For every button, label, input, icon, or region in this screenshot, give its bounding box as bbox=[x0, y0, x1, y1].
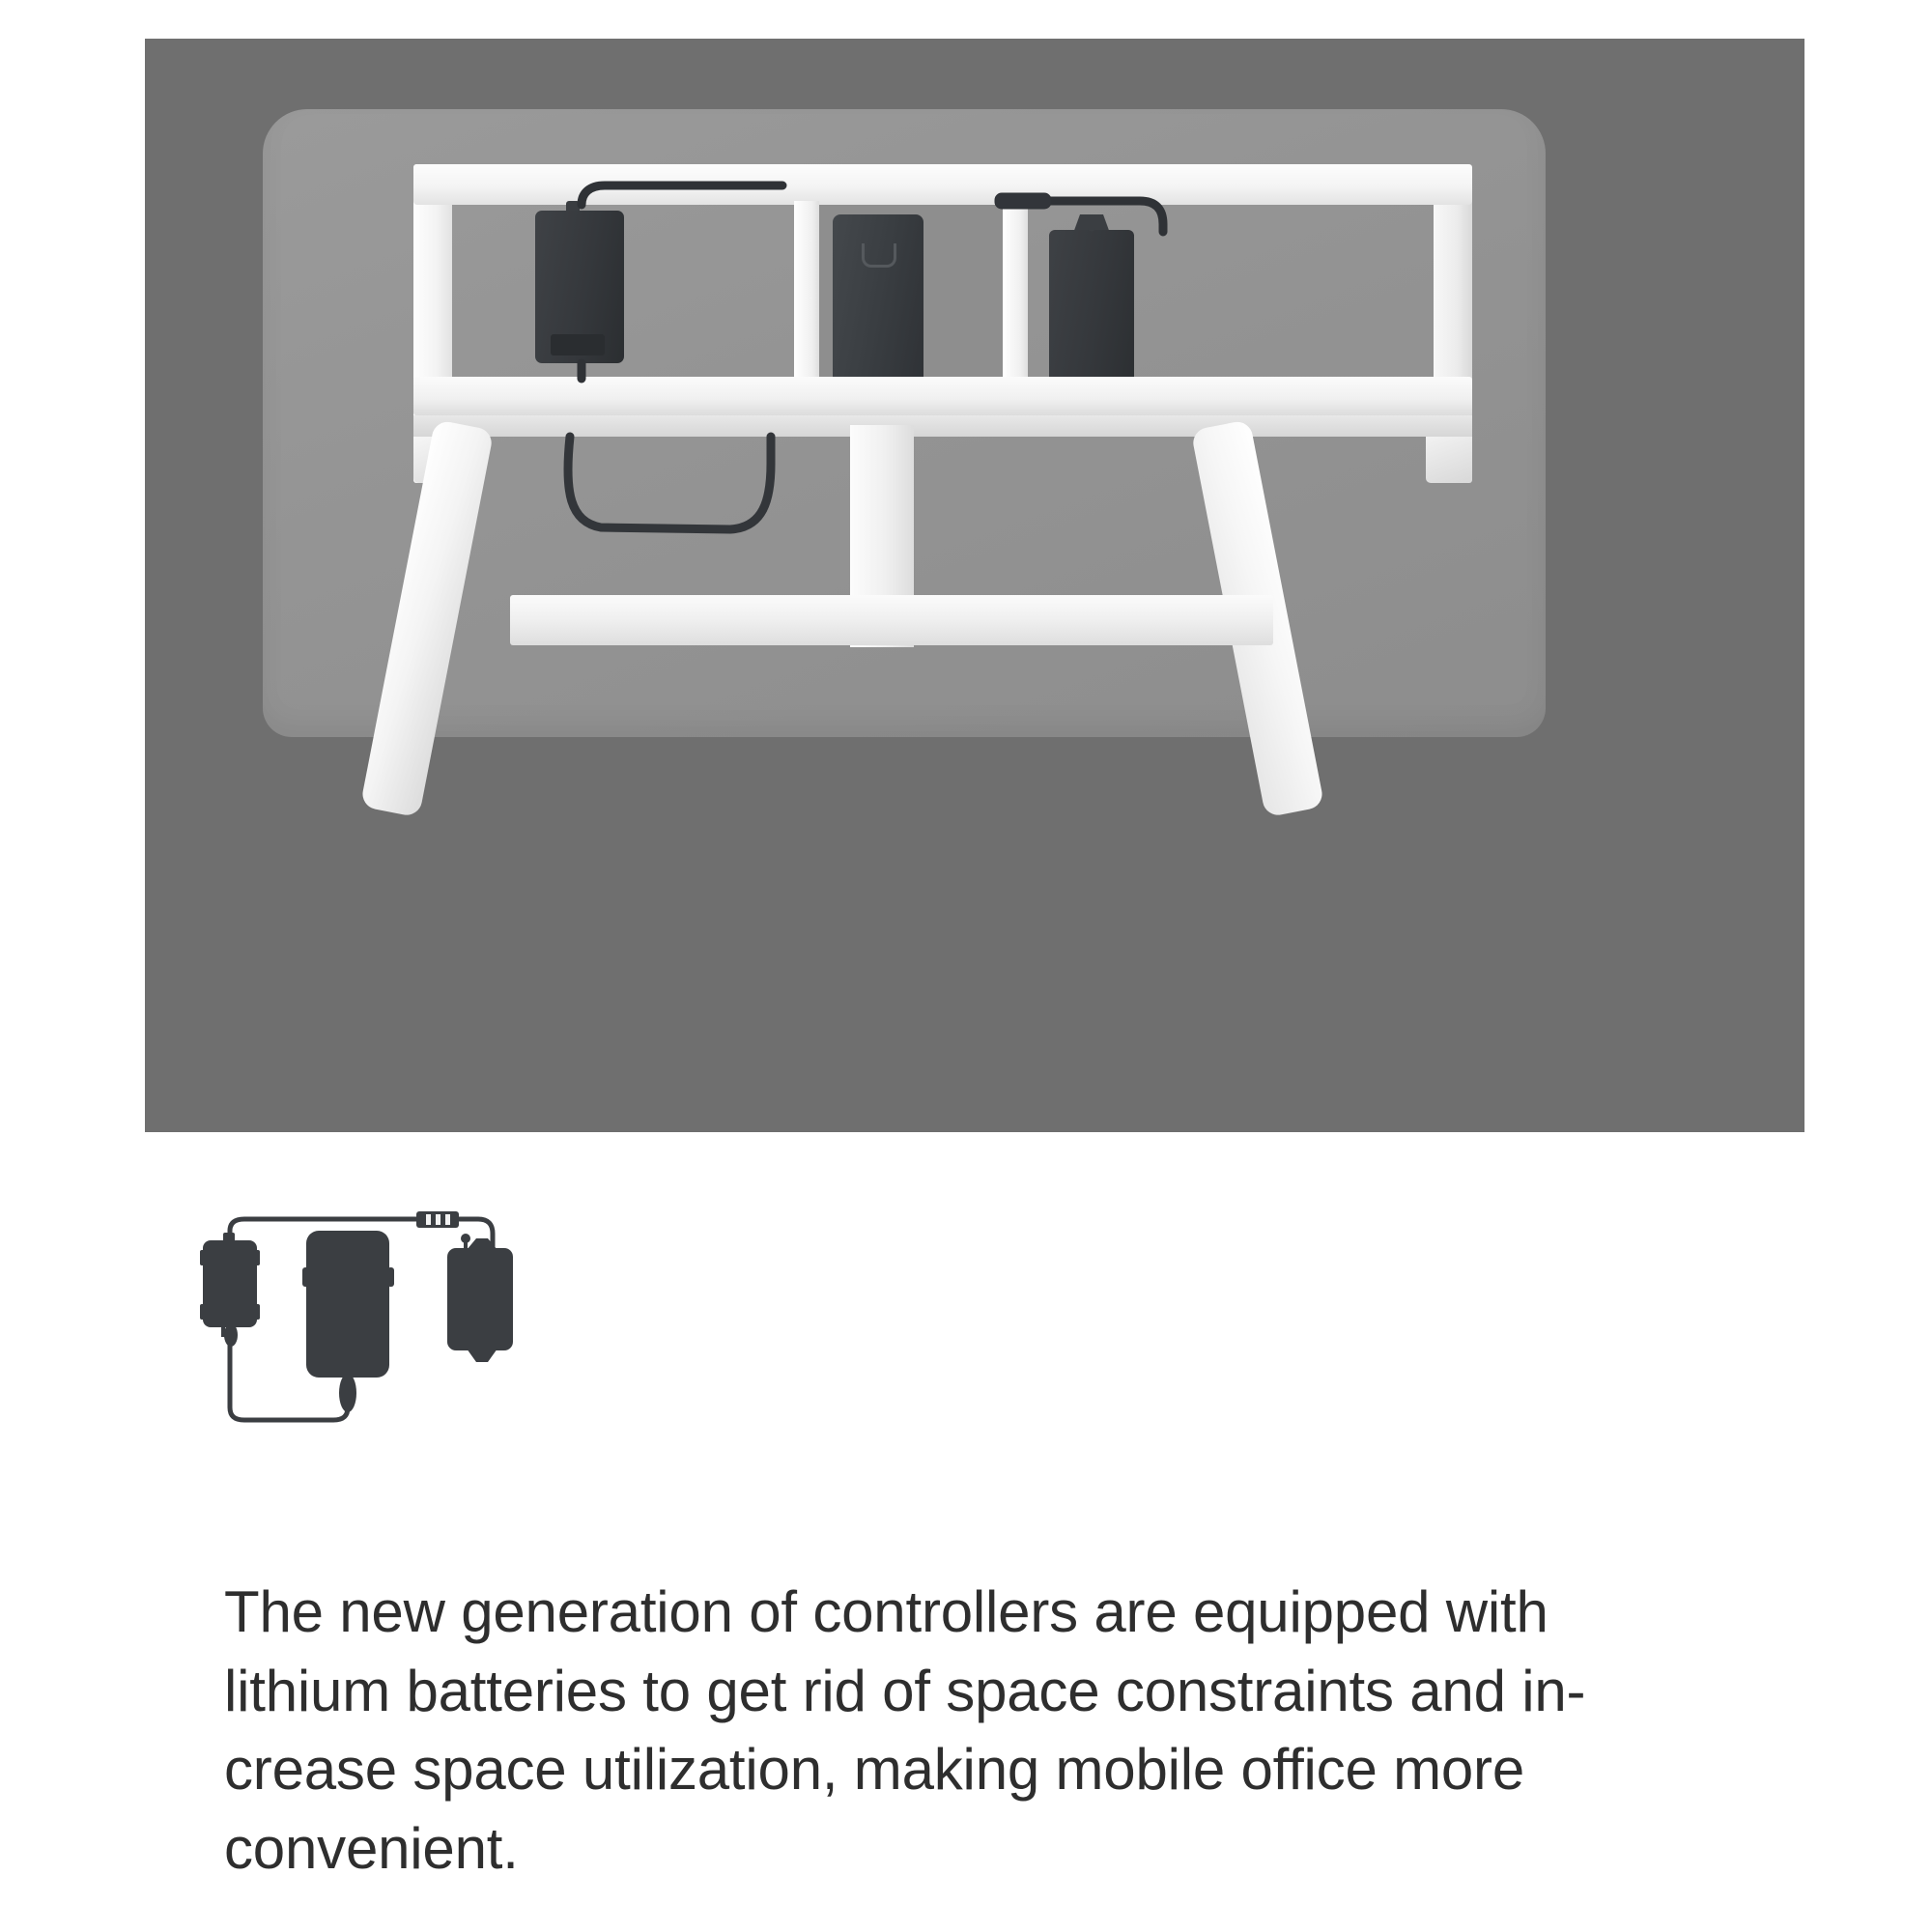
frame-divider-right bbox=[1003, 201, 1028, 384]
desk-controller bbox=[833, 214, 923, 384]
caption-line-4: convenient. bbox=[224, 1809, 1717, 1889]
lithium-battery-icon bbox=[447, 1234, 513, 1362]
cross-beam bbox=[510, 595, 1273, 645]
frame-rail-middle-underside bbox=[413, 415, 1472, 437]
frame-divider-left bbox=[794, 201, 819, 384]
power-adapter bbox=[535, 211, 624, 363]
frame-rail-top bbox=[413, 164, 1472, 205]
controller-icon bbox=[302, 1231, 394, 1412]
controller-logo-icon bbox=[862, 243, 896, 268]
frame-post-right-end-cap bbox=[1426, 437, 1472, 483]
caption-line-3: crease space utilization, making mobile … bbox=[224, 1730, 1717, 1809]
caption-paragraph: The new generation of controllers are eq… bbox=[224, 1573, 1717, 1888]
frame-rail-middle bbox=[413, 377, 1472, 415]
lithium-battery bbox=[1049, 230, 1134, 384]
product-photo bbox=[145, 39, 1804, 1132]
inline-connector-icon bbox=[416, 1211, 459, 1228]
caption-line-1: The new generation of controllers are eq… bbox=[224, 1573, 1717, 1652]
power-adapter-icon bbox=[200, 1233, 260, 1347]
caption-line-2: lithium batteries to get rid of space co… bbox=[224, 1652, 1717, 1731]
wiring-diagram bbox=[198, 1209, 604, 1441]
